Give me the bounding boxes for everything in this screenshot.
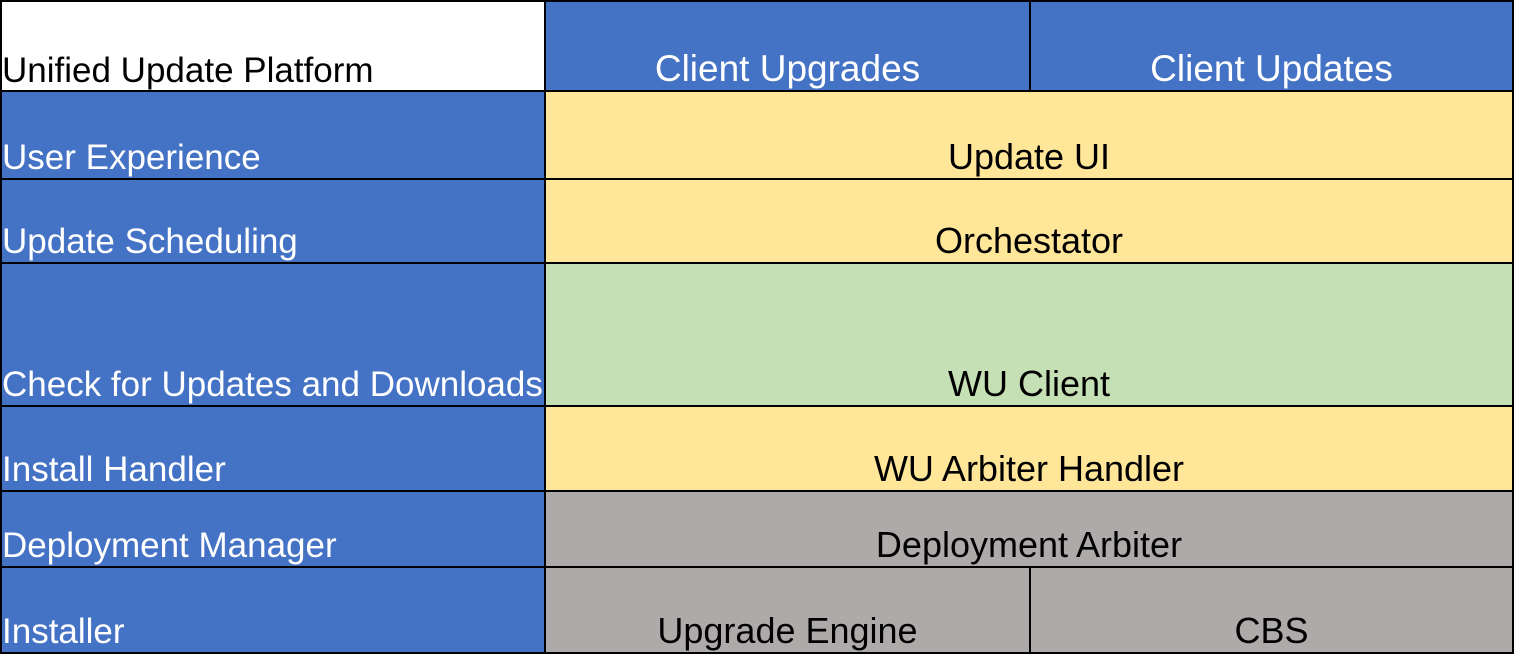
table-row: Update Scheduling Orchestator (1, 179, 1513, 263)
table-row: Deployment Manager Deployment Arbiter (1, 491, 1513, 567)
cell-orchestator: Orchestator (545, 179, 1513, 263)
table-row: User Experience Update UI (1, 91, 1513, 179)
cell-deployment-arbiter: Deployment Arbiter (545, 491, 1513, 567)
table-row: Install Handler WU Arbiter Handler (1, 406, 1513, 491)
row-label-installer: Installer (1, 567, 545, 653)
cell-update-ui: Update UI (545, 91, 1513, 179)
unified-update-platform-table-container: Unified Update Platform Client Upgrades … (0, 0, 1522, 656)
cell-upgrade-engine: Upgrade Engine (545, 567, 1030, 653)
cell-wu-arbiter-handler: WU Arbiter Handler (545, 406, 1513, 491)
table-title-corner-cell: Unified Update Platform (1, 1, 545, 91)
table-row: Installer Upgrade Engine CBS (1, 567, 1513, 653)
row-label-check-for-updates-and-downloads: Check for Updates and Downloads (1, 263, 545, 406)
table-header-row: Unified Update Platform Client Upgrades … (1, 1, 1513, 91)
column-header-client-updates: Client Updates (1030, 1, 1513, 91)
row-label-install-handler: Install Handler (1, 406, 545, 491)
unified-update-platform-table: Unified Update Platform Client Upgrades … (0, 0, 1514, 654)
column-header-client-upgrades: Client Upgrades (545, 1, 1030, 91)
cell-wu-client: WU Client (545, 263, 1513, 406)
row-label-update-scheduling: Update Scheduling (1, 179, 545, 263)
table-row: Check for Updates and Downloads WU Clien… (1, 263, 1513, 406)
row-label-deployment-manager: Deployment Manager (1, 491, 545, 567)
row-label-user-experience: User Experience (1, 91, 545, 179)
cell-cbs: CBS (1030, 567, 1513, 653)
